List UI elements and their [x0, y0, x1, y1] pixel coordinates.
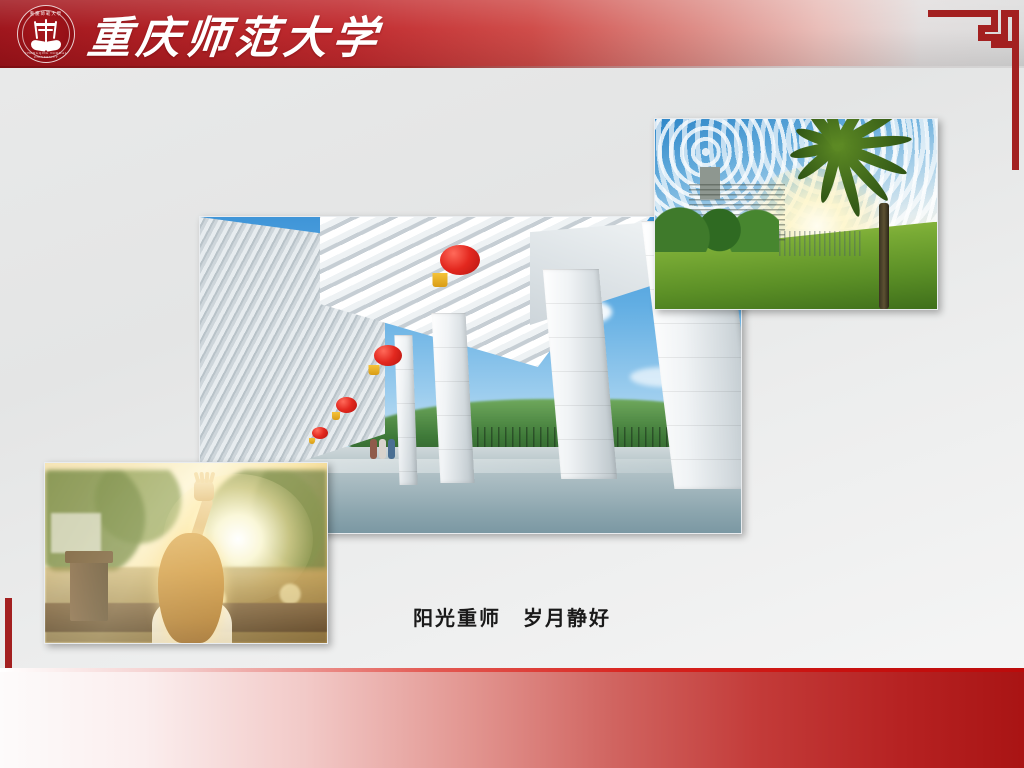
university-seal-icon: 重慶師範大學 CHONGQING NORMAL UNIVERSITY — [17, 5, 75, 63]
campus-building — [779, 231, 864, 256]
seal-book-icon — [31, 40, 61, 51]
seal-ring-text-en: CHONGQING NORMAL UNIVERSITY — [17, 51, 75, 59]
corner-ornament-top-right-icon — [924, 8, 1024, 174]
seal-monogram — [33, 19, 59, 41]
header-divider — [0, 66, 1024, 68]
slide-footer — [0, 668, 1024, 768]
caption-text: 阳光重师 岁月静好 — [413, 606, 611, 630]
shrubbery — [655, 203, 779, 252]
palm-fronds — [778, 130, 898, 226]
pedestrians — [368, 433, 398, 459]
campus-sunset-palm-photo — [654, 118, 938, 310]
university-wordmark: 重庆师范大学 — [88, 6, 382, 62]
university-wordmark-text: 重庆师范大学 — [85, 2, 386, 66]
presentation-slide: 重慶師範大學 CHONGQING NORMAL UNIVERSITY 重庆师范大… — [0, 0, 1024, 768]
slide-caption: 阳光重师 岁月静好 — [0, 602, 1024, 631]
slide-header: 重慶師範大學 CHONGQING NORMAL UNIVERSITY 重庆师范大… — [0, 0, 1024, 68]
footer-gradient-band — [0, 672, 1024, 768]
